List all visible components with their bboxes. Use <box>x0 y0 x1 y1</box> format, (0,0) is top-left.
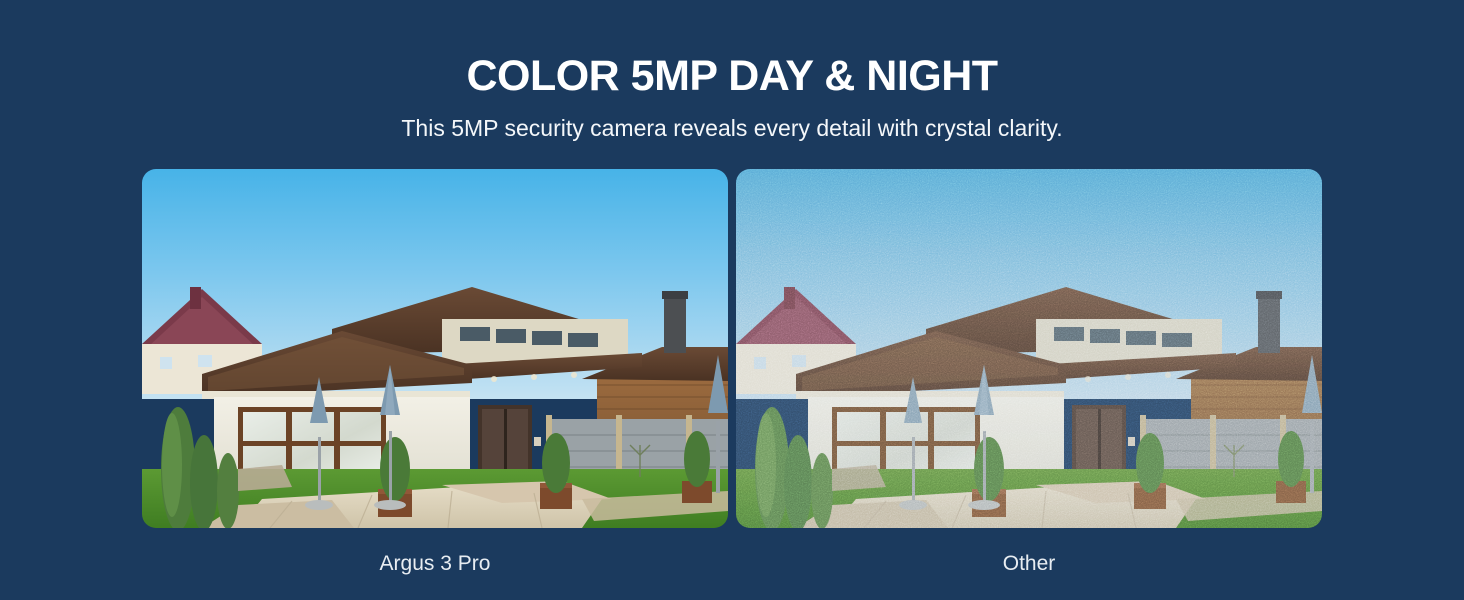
house-scene-noisy-image <box>736 169 1322 528</box>
page-subtitle: This 5MP security camera reveals every d… <box>0 113 1464 143</box>
caption-argus-3-pro: Argus 3 Pro <box>142 550 728 578</box>
caption-other: Other <box>736 550 1322 578</box>
color-day-night-banner: COLOR 5MP DAY & NIGHT This 5MP security … <box>0 0 1464 600</box>
comparison-image-argus-3-pro <box>142 169 728 528</box>
house-scene-sharp-image <box>142 169 728 528</box>
comparison-image-other <box>736 169 1322 528</box>
page-title: COLOR 5MP DAY & NIGHT <box>0 50 1464 102</box>
